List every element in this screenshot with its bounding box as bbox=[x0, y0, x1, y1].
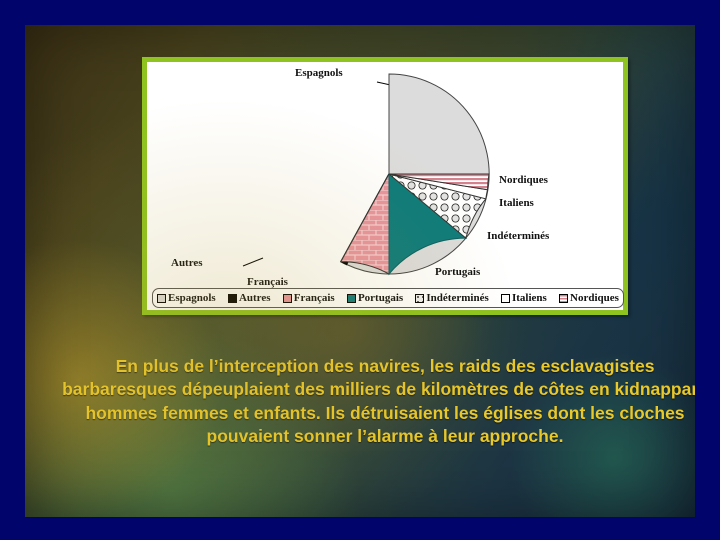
legend-swatch-francais-icon bbox=[283, 294, 292, 303]
legend-swatch-indetermines-icon bbox=[415, 294, 424, 303]
legend-swatch-nordiques-icon bbox=[559, 294, 568, 303]
legend-swatch-italiens-icon bbox=[501, 294, 510, 303]
pie-slice-francais-shape bbox=[341, 174, 389, 274]
slide-background: Espagnols Autres Français Portugais Indé… bbox=[25, 25, 695, 517]
legend-swatch-espagnols-icon bbox=[157, 294, 166, 303]
legend-item-nordiques[interactable]: Nordiques bbox=[559, 292, 619, 304]
legend-item-autres[interactable]: Autres bbox=[228, 292, 271, 304]
legend-item-espagnols[interactable]: Espagnols bbox=[157, 292, 216, 304]
slide-stage: Espagnols Autres Français Portugais Indé… bbox=[0, 0, 720, 540]
legend-swatch-autres-icon bbox=[228, 294, 237, 303]
legend-item-indetermines[interactable]: Indéterminés bbox=[415, 292, 488, 304]
chart-plot-area: Espagnols Autres Français Portugais Indé… bbox=[147, 62, 623, 310]
chart-legend[interactable]: Espagnols Autres Français Portugais bbox=[152, 288, 624, 308]
pie-chart-object[interactable]: Espagnols Autres Français Portugais Indé… bbox=[142, 57, 628, 315]
body-paragraph: En plus de l’interception des navires, l… bbox=[61, 355, 695, 448]
legend-label-indetermines: Indéterminés bbox=[426, 292, 488, 304]
legend-swatch-portugais-icon bbox=[347, 294, 356, 303]
legend-item-francais[interactable]: Français bbox=[283, 292, 335, 304]
pie-graphic bbox=[285, 70, 493, 278]
legend-label-nordiques: Nordiques bbox=[570, 292, 619, 304]
legend-label-francais: Français bbox=[294, 292, 335, 304]
slide-body-text: En plus de l’interception des navires, l… bbox=[61, 355, 695, 448]
legend-item-portugais[interactable]: Portugais bbox=[347, 292, 403, 304]
legend-label-autres: Autres bbox=[239, 292, 271, 304]
legend-item-italiens[interactable]: Italiens bbox=[501, 292, 547, 304]
legend-label-portugais: Portugais bbox=[358, 292, 403, 304]
legend-label-italiens: Italiens bbox=[512, 292, 547, 304]
legend-label-espagnols: Espagnols bbox=[168, 292, 216, 304]
